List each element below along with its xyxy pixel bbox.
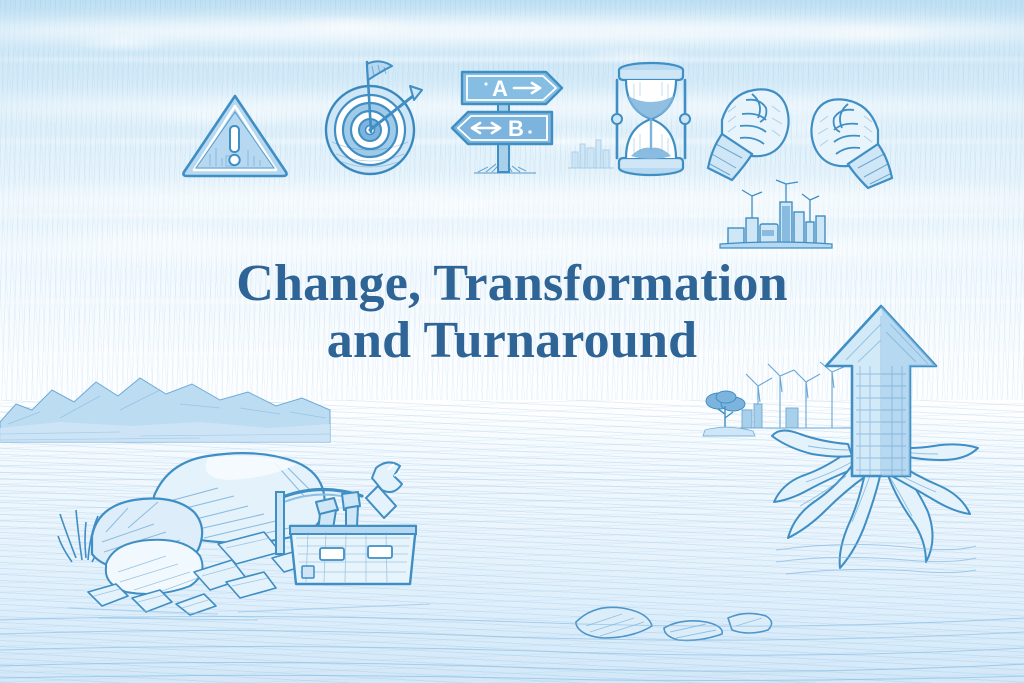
cityscape-icon (718, 182, 834, 250)
fists-icon (702, 78, 898, 188)
foreground-ground-lines (0, 610, 1024, 683)
title-line-1: Change, Transformation (236, 255, 787, 312)
target-arrow-icon (310, 58, 440, 178)
cloud-streak (0, 58, 1024, 61)
lone-tree (697, 388, 757, 438)
signpost-icon: A B (442, 66, 572, 178)
cloud-streak (0, 214, 1024, 217)
arrow-with-roots (786, 300, 976, 580)
poster-image: A B (0, 0, 1024, 683)
signpost-label-bottom: B (508, 116, 524, 141)
rocks-and-toolbox (58, 432, 438, 622)
cloud-band (0, 18, 1024, 44)
cloud-band (0, 186, 1024, 216)
signpost-label-top: A (492, 76, 508, 101)
hourglass-icon (608, 60, 694, 178)
warning-triangle-icon (180, 92, 290, 178)
